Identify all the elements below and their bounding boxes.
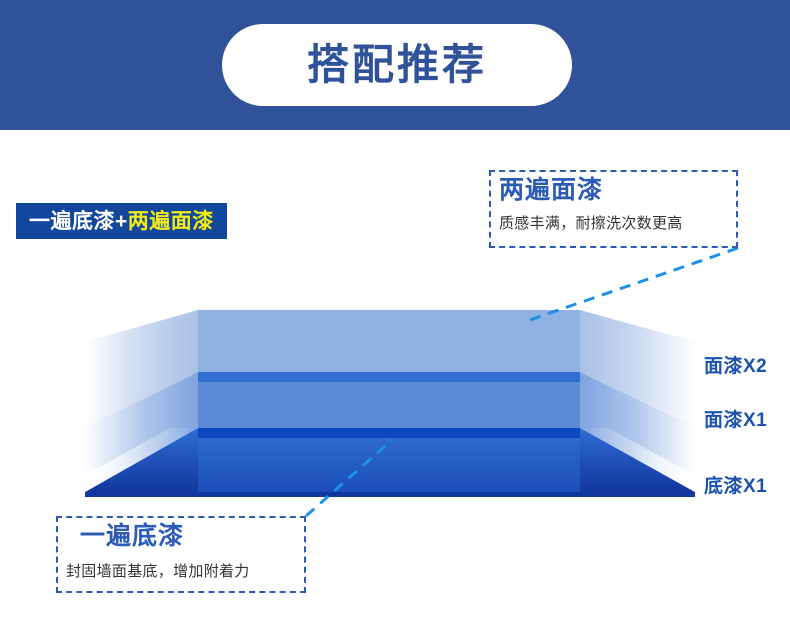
layer1-left-fade <box>85 310 198 428</box>
layer-topcoat-second <box>85 310 695 428</box>
layer1-back-wall <box>198 310 580 372</box>
layer2-left-fade <box>85 372 198 492</box>
floor-left-fade <box>85 428 198 492</box>
scheme-badge-highlight-label: 两遍面漆 <box>128 211 214 232</box>
layer2-right-fade <box>580 372 695 492</box>
layer2-back-wall <box>198 382 580 428</box>
scheme-badge: 一遍底漆+ 两遍面漆 <box>16 203 227 239</box>
layer1-right-wall <box>580 310 695 428</box>
layer-label-topcoat-second: 面漆X2 <box>704 357 767 376</box>
header-banner: 搭配推荐 <box>0 0 790 130</box>
floor-front-edge <box>85 492 695 497</box>
floor-right-fade <box>580 428 695 492</box>
layer-primer <box>85 428 695 492</box>
callout-primer: 一遍底漆 封固墙面基底，增加附着力 <box>56 516 306 593</box>
layer3-back-wall <box>198 438 580 492</box>
connector-line-topcoat <box>524 248 738 322</box>
callout-topcoat: 两遍面漆 质感丰满，耐擦洗次数更高 <box>489 170 738 248</box>
callout-topcoat-subtitle: 质感丰满，耐擦洗次数更高 <box>499 216 683 231</box>
layer-label-topcoat-first: 面漆X1 <box>704 411 767 430</box>
page-title: 搭配推荐 <box>307 44 487 86</box>
scheme-badge-primary-label: 一遍底漆+ <box>29 211 128 232</box>
layer1-right-fade <box>580 310 695 428</box>
connector-line-primer <box>306 440 392 516</box>
callout-primer-title: 一遍底漆 <box>80 524 184 549</box>
layer3-divider <box>198 428 580 438</box>
layer1-left-wall <box>85 310 198 428</box>
callout-primer-subtitle: 封固墙面基底，增加附着力 <box>66 564 250 579</box>
layer2-left-wall <box>85 372 198 492</box>
callout-topcoat-title: 两遍面漆 <box>499 178 603 203</box>
floor-plane <box>85 428 695 492</box>
layer-topcoat-first <box>85 372 695 492</box>
page-title-pill: 搭配推荐 <box>222 24 572 106</box>
layer2-right-wall <box>580 372 695 492</box>
layer2-divider <box>198 372 580 382</box>
layer-label-primer: 底漆X1 <box>704 477 767 496</box>
